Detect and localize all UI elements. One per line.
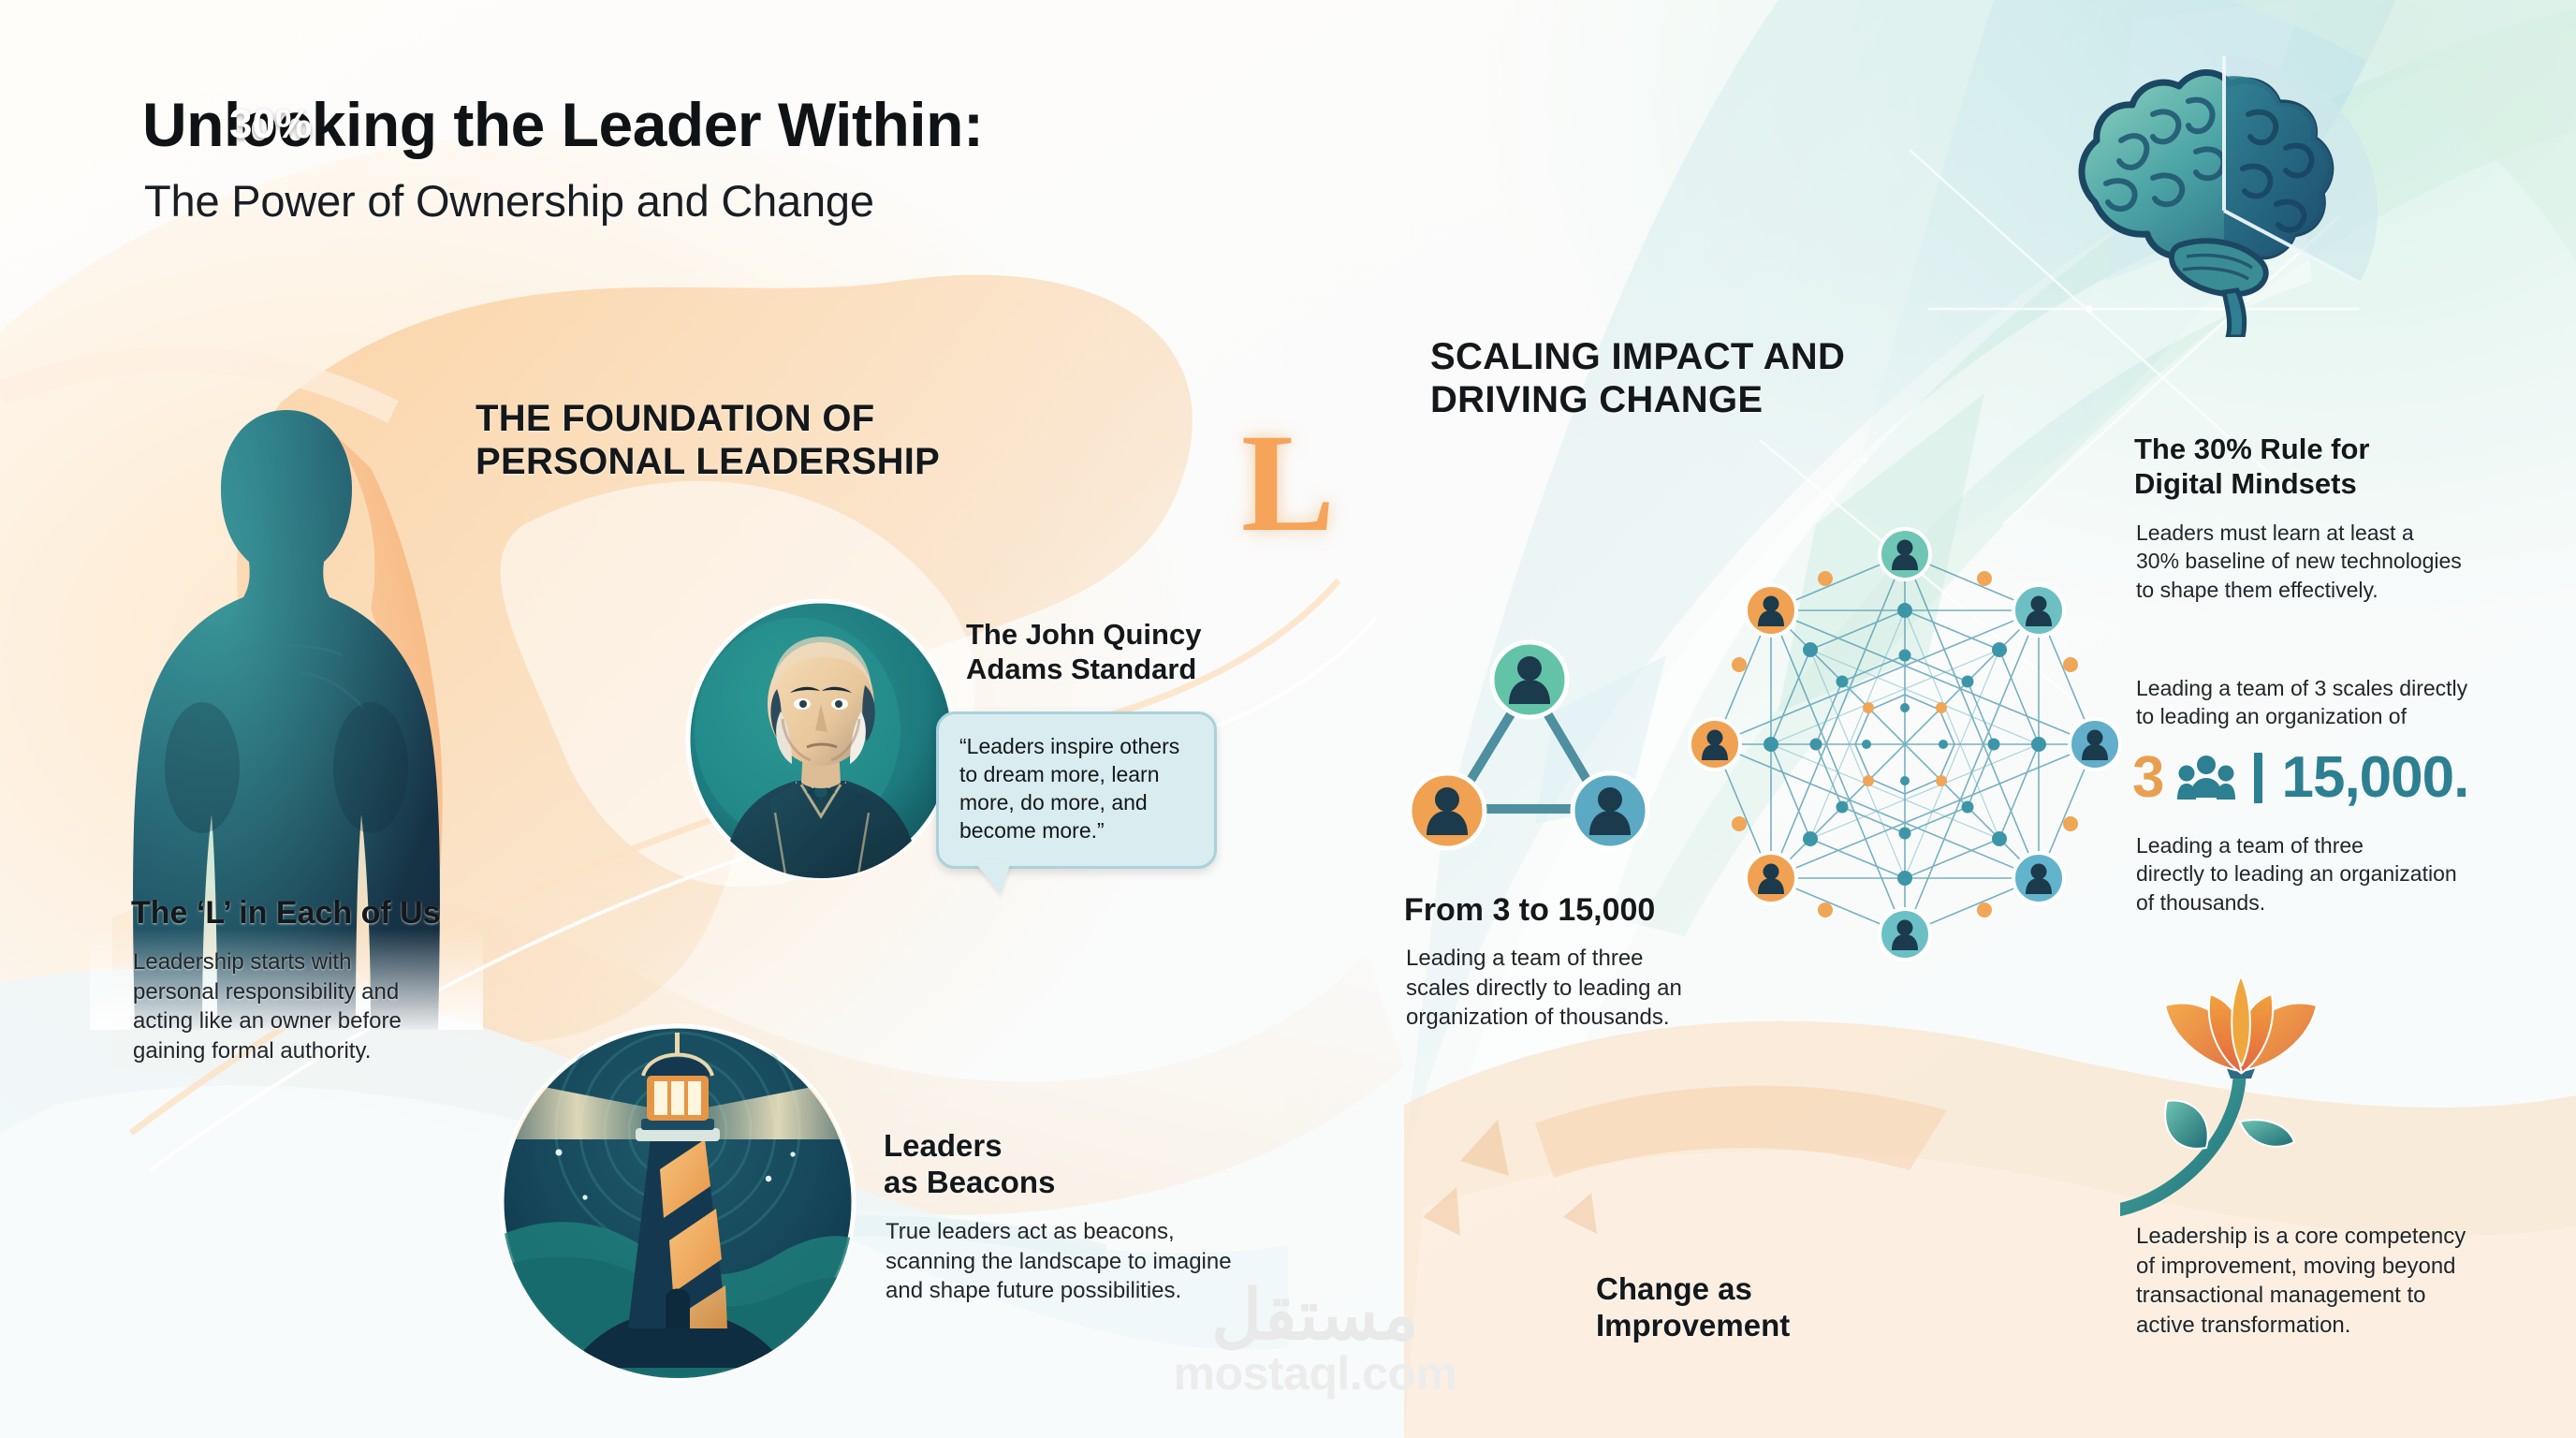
- team-triangle-icon: [1389, 625, 1670, 869]
- flower-graphic: [2120, 955, 2373, 1217]
- stat-lead-in-text: Leading a team of 3 scales directly to l…: [2136, 674, 2576, 731]
- brain-icon: [2041, 28, 2471, 337]
- team-node-left: [1410, 773, 1485, 848]
- card-title-from-3-to-15000: From 3 to 15,000: [1404, 891, 1655, 929]
- tulip-flower-icon: [2120, 955, 2373, 1217]
- adams-portrait-graphic: [685, 599, 957, 880]
- network-graph-icon: [1685, 524, 2125, 964]
- card-body-from-3-to-15000: Leading a team of three scales directly …: [1406, 944, 1799, 1033]
- team-node-top: [1492, 642, 1567, 717]
- john-quincy-adams-portrait: [685, 599, 957, 880]
- team-triangle-graphic: [1389, 625, 1670, 869]
- card-body-l-in-each-of-us: Leadership starts with personal responsi…: [133, 947, 489, 1066]
- people-group-icon: [2177, 753, 2235, 803]
- network-graph-graphic: [1685, 524, 2125, 964]
- stat-row-3-to-15000: 3 15,000.: [2132, 749, 2468, 807]
- quote-bubble: “Leaders inspire others to dream more, l…: [936, 712, 1217, 869]
- card-title-leaders-as-beacons: Leaders as Beacons: [884, 1128, 1055, 1201]
- stat-divider: [2254, 753, 2262, 803]
- card-title-change-as-improvement: Change as Improvement: [1596, 1271, 1790, 1344]
- lighthouse-icon: [495, 1020, 860, 1385]
- brain-pie-graphic: [2041, 28, 2471, 337]
- team-node-right: [1573, 773, 1647, 848]
- card-title-l-in-each-of-us: The ‘L’ in Each of Us: [131, 894, 441, 932]
- card-body-transformation: Leadership is a core competency of impro…: [2136, 1222, 2576, 1341]
- section-heading-foundation: THE FOUNDATION OF PERSONAL LEADERSHIP: [476, 397, 940, 484]
- stat-value-15000: 15,000.: [2281, 749, 2468, 807]
- section-heading-scaling: SCALING IMPACT AND DRIVING CHANGE: [1430, 335, 1845, 422]
- lighthouse-graphic: [495, 1020, 860, 1385]
- card-title-30-percent-rule: The 30% Rule for Digital Mindsets: [2134, 433, 2370, 501]
- page-title: Unlocking the Leader Within:: [142, 89, 983, 160]
- stat-body-text: Leading a team of three directly to lead…: [2136, 831, 2576, 917]
- card-body-30-percent-rule: Leaders must learn at least a 30% baseli…: [2136, 519, 2576, 604]
- page-subtitle: The Power of Ownership and Change: [144, 175, 874, 227]
- infographic-canvas: Unlocking the Leader Within: The Power o…: [0, 0, 2576, 1438]
- stat-value-3: 3: [2132, 749, 2164, 807]
- quote-text: “Leaders inspire others to dream more, l…: [959, 733, 1193, 845]
- card-title-adams-standard: The John Quincy Adams Standard: [966, 618, 1201, 686]
- card-body-leaders-as-beacons: True leaders act as beacons, scanning th…: [885, 1217, 1372, 1306]
